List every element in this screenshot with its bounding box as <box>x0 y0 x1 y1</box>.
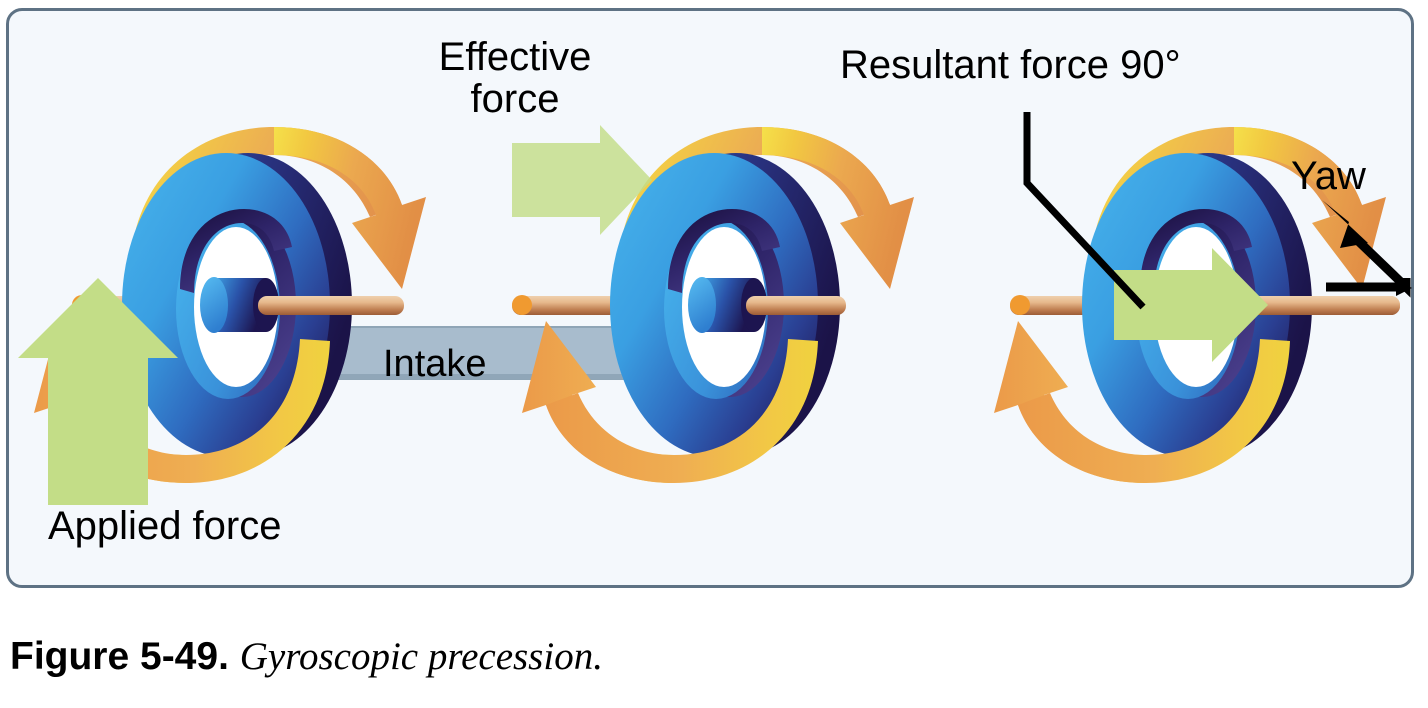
gyro2-axle-right <box>746 296 846 315</box>
figure-stage: Effective force Resultant force 90° Yaw … <box>0 0 1428 708</box>
applied-force-gyro <box>18 127 426 505</box>
effective-force-gyro <box>512 125 914 483</box>
figure-number: Figure 5-49. <box>10 635 229 678</box>
yaw-label: Yaw <box>1291 155 1366 197</box>
intake-label: Intake <box>383 344 487 384</box>
figure-caption: Figure 5-49. Gyroscopic precession. <box>10 634 603 679</box>
resultant-force-label: Resultant force 90° <box>840 44 1181 86</box>
effective-force-label: Effective force <box>420 36 610 121</box>
gyro1-axle-right <box>258 296 404 315</box>
gyroscope-illustration <box>0 0 1428 708</box>
applied-force-label: Applied force <box>48 505 281 547</box>
figure-title: Gyroscopic precession. <box>240 635 603 678</box>
